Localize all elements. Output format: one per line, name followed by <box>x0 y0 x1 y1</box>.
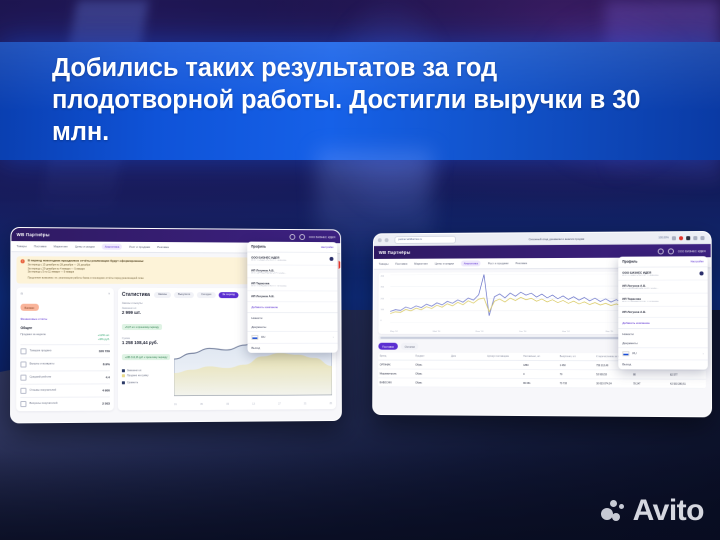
profile-icon[interactable] <box>686 236 690 240</box>
language-label: RU <box>261 335 265 339</box>
dropdown-item[interactable]: Новости <box>618 329 707 338</box>
table-cell: 42 933 280,51 <box>669 379 706 388</box>
dropdown-settings-link[interactable]: Настройки <box>321 246 333 249</box>
balance-pill[interactable]: Баланс <box>21 304 39 311</box>
account-item[interactable]: ИП Логунов А.В.ИНН 504401946142 ОГРН 319… <box>247 265 337 278</box>
nav-item[interactable]: Цены и скидки <box>435 262 454 266</box>
metric-value: 8.9% <box>103 362 110 366</box>
table-cell: Медиаконтроль <box>378 369 414 378</box>
box-icon <box>20 348 26 354</box>
account-item[interactable]: ИП Логунов А.В.ИНН 504401946142 ОГРН 319… <box>618 280 707 293</box>
panel-top-label: Я <box>21 291 23 295</box>
account-inn: ИНН 504401946142 ОГРН 3195... <box>251 272 333 274</box>
star-icon[interactable] <box>672 236 676 240</box>
table-cell: 0 <box>522 369 558 378</box>
alert-icon: ! <box>21 259 25 263</box>
table-column-header[interactable]: Предмет <box>414 353 450 361</box>
screenshot-left: WB Партнёры ООО БИЗНЕС ИДЕЯ ТоварыПостав… <box>10 227 342 423</box>
nav-item[interactable]: Товары <box>17 244 27 248</box>
table-cell: 53 930,53 <box>595 370 632 379</box>
account-name: ИП Логунов А.В. <box>251 294 333 298</box>
table-tab[interactable]: Поставки <box>378 343 398 350</box>
table-cell: 80 <box>632 370 669 379</box>
browser-tab-title[interactable]: Сезонный спад динамики и анализ продаж <box>459 236 655 241</box>
table-cell: 82 577 <box>669 370 706 379</box>
language-label: RU <box>632 351 636 355</box>
chart-x-axis: 01050913172125 <box>174 402 332 406</box>
nav-item[interactable]: Поставки <box>34 244 47 248</box>
dropdown-items[interactable]: НовостиДокументы <box>247 313 337 331</box>
gear-icon[interactable] <box>699 271 703 275</box>
account-list[interactable]: ООО БИЗНЕС ИДЕЯИНН 7736207543 КПП 773601… <box>618 267 707 318</box>
language-selector[interactable]: RU › <box>247 331 337 342</box>
y-tick: 300 <box>381 287 385 289</box>
account-item[interactable]: ООО БИЗНЕС ИДЕЯИНН 7736207543 КПП 773601… <box>618 267 707 280</box>
account-inn: ИНН 504401946142 ОГРН 3195... <box>622 288 703 290</box>
table-column-header[interactable]: Артикул поставщика <box>486 353 522 361</box>
metric-list: Товаров продано326 729Выкупы и возвраты8… <box>20 344 109 406</box>
add-company-link[interactable]: Добавить компанию <box>618 318 707 329</box>
downloads-icon[interactable] <box>693 236 697 240</box>
nav-item[interactable]: Реклама <box>516 261 528 265</box>
table-cell: ОРГАНИК <box>378 360 414 369</box>
dropdown-title: Профиль <box>622 260 637 264</box>
avito-wordmark: Avito <box>633 496 704 526</box>
trend-row: Продажи за неделю +12% шт. +9% руб. <box>20 333 109 341</box>
trend-value-units: +12% шт. <box>98 333 110 337</box>
metric-value: 4.4 <box>106 375 110 379</box>
table-column-header[interactable]: Выкуплено, шт. <box>558 353 595 361</box>
help-icon[interactable] <box>299 234 305 240</box>
chart-compare-label: Сравнить <box>127 381 138 384</box>
x-tick: 25 <box>329 402 332 405</box>
metric-value: 326 729 <box>99 349 110 353</box>
table-cell <box>486 360 522 369</box>
section-title-general: Общее <box>20 326 109 330</box>
financial-reports-link[interactable]: Финансовые отчёты <box>20 316 109 320</box>
y-tick: 200 <box>381 298 385 300</box>
clock-icon <box>20 400 26 406</box>
account-name: ИП Логунов А.В. <box>622 310 703 314</box>
table-column-header[interactable]: Бренд <box>378 353 414 361</box>
cart-icon <box>20 387 26 393</box>
avito-watermark: Avito <box>601 496 704 526</box>
account-item[interactable]: ИП ТарасоваИНН 7714050678 КПП 770701001 <box>247 278 337 291</box>
screenshot-right: partner.wildberries.ru Сезонный спад дин… <box>372 231 712 417</box>
nav-item[interactable]: Товары <box>379 262 389 266</box>
x-tick: 13 <box>252 402 255 405</box>
nav-item[interactable]: Маркетинг <box>54 244 68 248</box>
account-inn: ИНН 7736207543 КПП 773601001 <box>251 259 333 261</box>
x-tick: Май '24 <box>433 331 441 333</box>
table-cell <box>450 360 486 369</box>
filter-chip[interactable]: За период <box>218 292 239 298</box>
laptop-bottom-fade <box>0 450 720 540</box>
table-column-header[interactable]: Дата <box>450 353 486 361</box>
help-icon[interactable] <box>668 248 674 254</box>
chevron-down-icon: › <box>703 352 704 355</box>
metric-row: Выкупы и возвраты8.9% <box>20 357 109 367</box>
dropdown-items[interactable]: НовостиДокументы <box>618 329 708 347</box>
table-cell <box>450 378 486 387</box>
metric-label: Выкупы и возвраты <box>30 362 100 365</box>
table-cell: Обувь <box>414 378 450 387</box>
account-list[interactable]: ООО БИЗНЕС ИДЕЯИНН 7736207543 КПП 773601… <box>247 253 337 303</box>
table-cell: 73 733 <box>558 379 595 388</box>
extensions-icon[interactable] <box>679 236 683 240</box>
avito-logo-icon <box>601 500 627 522</box>
account-inn: ИНН 7736207543 КПП 773601001 <box>622 274 703 276</box>
address-bar[interactable]: partner.wildberries.ru <box>394 235 456 243</box>
nav-item[interactable]: Аналитика <box>461 260 481 266</box>
metric-value: 4 900 <box>102 388 110 392</box>
account-item[interactable]: ИП Логунов А.В. <box>247 291 337 302</box>
headline-text: Добились таких результатов за год плодот… <box>52 52 662 148</box>
wb-logo: WB Партнёры <box>17 232 50 237</box>
menu-icon[interactable] <box>700 236 704 240</box>
x-tick: 01 <box>174 403 177 406</box>
metric-label: Товаров продано <box>30 349 96 352</box>
statistics-title: Статистика <box>122 291 150 297</box>
table-cell: 30 623 074,34 <box>595 379 632 388</box>
account-inn: ИНН 7714050678 КПП 770701001 <box>251 285 333 287</box>
filter-chip[interactable]: Сегодня <box>197 292 215 298</box>
calendar-icon <box>20 361 26 367</box>
logout-item[interactable]: Выход <box>247 342 337 352</box>
account-item[interactable]: ИП ТарасоваИНН 7714050678 КПП 770701001 <box>618 294 707 307</box>
account-label[interactable]: ООО БИЗНЕС ИДЕЯ <box>678 249 706 253</box>
filter-chip[interactable]: Заказы <box>154 291 171 297</box>
nav-item[interactable]: Рост и продажи <box>129 245 150 249</box>
table-cell: 80 061 <box>522 378 558 387</box>
help-question-icon[interactable]: ? <box>108 291 110 295</box>
dropdown-settings-link[interactable]: Настройки <box>691 260 704 263</box>
gear-icon[interactable] <box>330 257 334 261</box>
x-tick: Мар '24 <box>390 331 398 333</box>
table-cell <box>486 369 522 378</box>
x-tick: Ноя '24 <box>562 331 569 333</box>
table-cell: 1860 <box>522 360 558 369</box>
y-tick: 100 <box>380 309 384 311</box>
back-icon[interactable] <box>378 238 382 242</box>
statistics-filter-chips[interactable]: ЗаказыВыкупилиСегодняЗа период <box>154 291 239 297</box>
y-tick: 400 <box>381 276 385 278</box>
table-tab[interactable]: Остатки <box>401 343 419 350</box>
dropdown-item[interactable]: Документы <box>247 322 337 331</box>
kpi2-badge: +286 312,26 руб. к прошлому периоду <box>122 354 170 360</box>
table-cell: 70 <box>558 370 595 379</box>
table-cell: 78 247 <box>632 379 669 388</box>
add-company-link[interactable]: Добавить компанию <box>247 302 337 313</box>
account-label[interactable]: ООО БИЗНЕС ИДЕЯ <box>309 235 336 239</box>
profile-dropdown[interactable]: Профиль Настройки ООО БИЗНЕС ИДЕЯИНН 773… <box>247 242 337 353</box>
filter-chip[interactable]: Выкупили <box>174 292 194 298</box>
dropdown-item[interactable]: Новости <box>247 313 337 322</box>
zoom-level[interactable]: 100,00% <box>658 236 668 239</box>
table-cell: Обувь <box>414 369 450 378</box>
notifications-icon[interactable] <box>657 248 663 254</box>
table-cell <box>486 378 522 387</box>
wb-logo: WB Партнёры <box>379 250 411 255</box>
metric-value: 2 503 <box>102 401 110 405</box>
notifications-icon[interactable] <box>289 233 295 239</box>
nav-item[interactable]: Маркетинг <box>414 262 428 266</box>
account-item[interactable]: ИП Логунов А.В. <box>618 307 707 318</box>
x-tick: Июл '24 <box>476 331 484 333</box>
dropdown-title: Профиль <box>251 245 266 249</box>
metric-row: Товаров продано326 729 <box>20 344 109 354</box>
account-item[interactable]: ООО БИЗНЕС ИДЕЯИНН 7736207543 КПП 773601… <box>247 253 337 266</box>
metric-label: Средний рейтинг <box>30 375 103 378</box>
warning-lines: За период с 15 декабря по 28 декабря — 2… <box>28 263 144 275</box>
y-tick: 0 <box>380 320 384 322</box>
metric-row: Отзывы покупателей4 900 <box>20 383 109 393</box>
nav-item[interactable]: Рост и продажи <box>488 261 509 265</box>
profile-dropdown[interactable]: Профиль Настройки ООО БИЗНЕС ИДЕЯИНН 773… <box>618 256 708 369</box>
chevron-down-icon: › <box>333 336 334 339</box>
table-row[interactable]: BABOCHKIОбувь80 06173 73330 623 074,3478… <box>378 378 706 389</box>
metric-label: Вопросы покупателей <box>30 402 100 405</box>
account-inn: ИНН 7714050678 КПП 770701001 <box>622 301 703 303</box>
logout-item[interactable]: Выход <box>618 359 708 369</box>
nav-item[interactable]: Цены и скидки <box>75 244 95 248</box>
x-tick: 09 <box>226 402 229 405</box>
legend-label: Заказано шт. <box>127 369 142 372</box>
table-cell: 1 460 <box>558 361 595 370</box>
table-cell <box>450 369 486 378</box>
trend-value-rub: +9% руб. <box>98 337 110 341</box>
star-icon <box>20 374 26 380</box>
x-tick: 05 <box>200 402 203 405</box>
metric-row: Средний рейтинг4.4 <box>20 370 109 380</box>
x-tick: Сен '24 <box>519 331 526 333</box>
warning-footer: Продление возможно: пп. реализация работ… <box>28 276 144 280</box>
table-cell: BABOCHKI <box>378 378 414 387</box>
nav-item[interactable]: Аналитика <box>102 244 122 250</box>
kpi1-badge: +5,07 шт. к прошлому периоду <box>122 324 162 330</box>
trend-label: Продажи за неделю <box>20 333 94 336</box>
promo-banner: QWERTYUIOPASDFGHJKLZXCVBNM4567890QWERTYU… <box>0 0 720 540</box>
legend-label: Продано на сумму <box>127 374 149 377</box>
summary-panel: Я ? Баланс Финансовые отчёты Общее Прода… <box>16 287 114 411</box>
language-selector[interactable]: RU › <box>618 347 708 359</box>
x-tick: Янв '25 <box>606 331 613 333</box>
dropdown-item[interactable]: Документы <box>618 338 708 347</box>
metric-row: Вопросы покупателей2 503 <box>20 396 109 406</box>
x-tick: 21 <box>304 402 307 405</box>
flag-icon <box>622 351 629 357</box>
chart-y-axis: 4003002001000 <box>380 276 384 322</box>
metric-label: Отзывы покупателей <box>30 388 100 391</box>
table-column-header[interactable]: Поставлено, шт. <box>522 353 558 361</box>
x-tick: 17 <box>278 402 281 405</box>
warning-line: За период с 5 по 11 января — 9 января <box>28 271 144 275</box>
flag-icon <box>251 334 258 339</box>
nav-item[interactable]: Реклама <box>157 245 169 249</box>
table-cell: Обувь <box>414 360 450 369</box>
nav-item[interactable]: Поставки <box>395 262 407 266</box>
reload-icon[interactable] <box>385 238 389 242</box>
